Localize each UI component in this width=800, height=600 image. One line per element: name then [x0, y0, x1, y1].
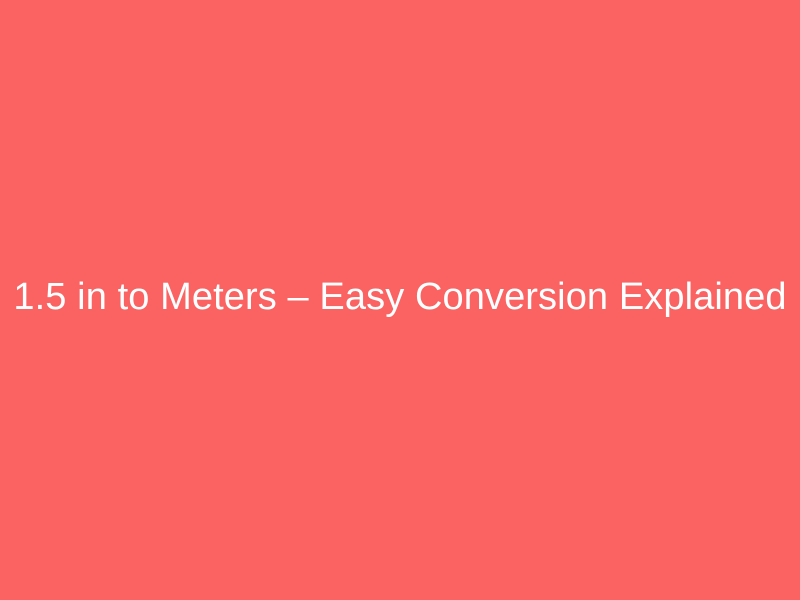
title-card: 1.5 in to Meters – Easy Conversion Expla…	[0, 0, 800, 600]
page-title: 1.5 in to Meters – Easy Conversion Expla…	[13, 275, 786, 320]
title-card-content: 1.5 in to Meters – Easy Conversion Expla…	[0, 275, 800, 320]
